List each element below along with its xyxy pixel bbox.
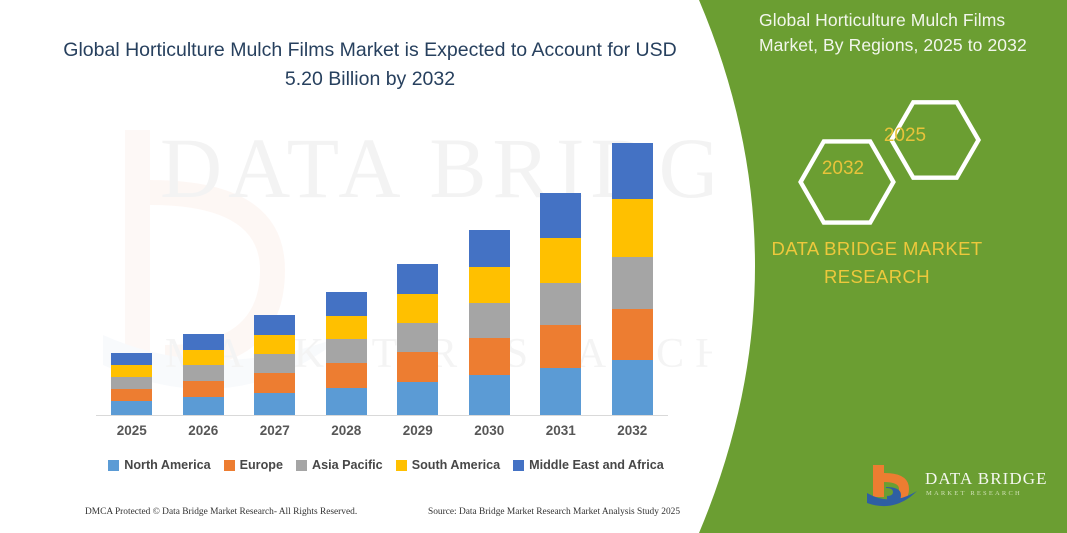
bar-segment xyxy=(183,381,224,397)
footer-copyright: DMCA Protected © Data Bridge Market Rese… xyxy=(85,507,357,517)
bar-segment xyxy=(469,267,510,303)
bar-segment xyxy=(326,292,367,316)
green-panel-content: Global Horticulture Mulch Films Market, … xyxy=(687,0,1067,533)
bar-2025 xyxy=(111,353,152,415)
x-axis-label-2028: 2028 xyxy=(310,423,382,438)
legend-label: Asia Pacific xyxy=(312,458,383,472)
legend-swatch-icon xyxy=(108,460,119,471)
bar-segment xyxy=(540,283,581,325)
green-side-panel: Global Horticulture Mulch Films Market, … xyxy=(687,0,1067,533)
hexagon-label-2032: 2032 xyxy=(807,158,879,180)
x-axis-label-2025: 2025 xyxy=(96,423,168,438)
data-bridge-logo: DATA BRIDGE MARKET RESEARCH xyxy=(865,463,1065,519)
bar-segment xyxy=(469,303,510,338)
bar-2029 xyxy=(397,264,438,415)
bar-segment xyxy=(540,325,581,368)
x-axis-label-2029: 2029 xyxy=(382,423,454,438)
hexagon-label-2025: 2025 xyxy=(869,125,941,147)
bar-segment xyxy=(469,230,510,267)
bar-2030 xyxy=(469,230,510,415)
bar-segment xyxy=(612,257,653,309)
legend-label: Middle East and Africa xyxy=(529,458,664,472)
chart-area: DATA BRIDGE MARKET RESEARCH Global Horti… xyxy=(0,0,712,533)
legend-label: South America xyxy=(412,458,500,472)
footer-source: Source: Data Bridge Market Research Mark… xyxy=(428,507,680,517)
x-axis-labels: 20252026202720282029203020312032 xyxy=(96,423,668,445)
legend-item[interactable]: Middle East and Africa xyxy=(513,458,664,472)
bar-segment xyxy=(612,309,653,360)
bar-segment xyxy=(254,335,295,354)
bar-segment xyxy=(326,363,367,388)
x-axis-label-2027: 2027 xyxy=(239,423,311,438)
legend-label: Europe xyxy=(240,458,283,472)
bar-segment xyxy=(254,354,295,373)
bar-segment xyxy=(183,334,224,350)
legend-item[interactable]: Asia Pacific xyxy=(296,458,383,472)
x-axis-label-2031: 2031 xyxy=(525,423,597,438)
bar-segment xyxy=(111,365,152,377)
legend-label: North America xyxy=(124,458,210,472)
bar-segment xyxy=(612,199,653,257)
bar-segment xyxy=(397,352,438,382)
bar-segment xyxy=(111,353,152,365)
bar-segment xyxy=(254,315,295,335)
bar-segment xyxy=(326,316,367,339)
legend-swatch-icon xyxy=(224,460,235,471)
bar-segment xyxy=(397,323,438,352)
legend-item[interactable]: South America xyxy=(396,458,500,472)
legend-swatch-icon xyxy=(396,460,407,471)
bar-segment xyxy=(397,382,438,415)
bar-segment xyxy=(183,365,224,381)
logo-tagline: MARKET RESEARCH xyxy=(926,490,1022,497)
bar-segment xyxy=(469,375,510,415)
bar-segment xyxy=(111,377,152,389)
bar-segment xyxy=(540,193,581,238)
brand-name: DATA BRIDGE MARKET RESEARCH xyxy=(727,235,1027,291)
bar-segment xyxy=(540,368,581,415)
bar-segment xyxy=(326,339,367,363)
page-title: Global Horticulture Mulch Films Market i… xyxy=(60,36,680,94)
legend-swatch-icon xyxy=(513,460,524,471)
legend-swatch-icon xyxy=(296,460,307,471)
bar-segment xyxy=(540,238,581,283)
bar-segment xyxy=(397,294,438,323)
x-axis-label-2030: 2030 xyxy=(453,423,525,438)
bar-segment xyxy=(612,143,653,199)
brand-line-2: RESEARCH xyxy=(727,263,1027,291)
bar-segment xyxy=(612,360,653,415)
x-axis-label-2032: 2032 xyxy=(596,423,668,438)
bar-segment xyxy=(254,393,295,415)
data-bridge-logo-icon xyxy=(865,463,923,513)
infographic-canvas: DATA BRIDGE MARKET RESEARCH Global Horti… xyxy=(0,0,1067,533)
x-axis-label-2026: 2026 xyxy=(167,423,239,438)
bar-2027 xyxy=(254,315,295,415)
brand-line-1: DATA BRIDGE MARKET xyxy=(727,235,1027,263)
panel-title: Global Horticulture Mulch Films Market, … xyxy=(759,8,1049,58)
bar-segment xyxy=(111,401,152,415)
bar-segment xyxy=(111,389,152,401)
legend-item[interactable]: Europe xyxy=(224,458,283,472)
bar-segment xyxy=(469,338,510,375)
chart-legend: North AmericaEuropeAsia PacificSouth Ame… xyxy=(96,455,676,475)
bar-segment xyxy=(254,373,295,393)
bar-2031 xyxy=(540,193,581,415)
bar-segment xyxy=(183,350,224,365)
bar-2026 xyxy=(183,334,224,415)
bar-segment xyxy=(183,397,224,415)
bar-segment xyxy=(326,388,367,415)
x-axis-line xyxy=(96,415,668,416)
logo-wordmark: DATA BRIDGE xyxy=(925,469,1048,489)
bar-2028 xyxy=(326,292,367,415)
legend-item[interactable]: North America xyxy=(108,458,210,472)
bar-2032 xyxy=(612,143,653,415)
bar-segment xyxy=(397,264,438,294)
bar-chart-bars xyxy=(96,118,668,415)
